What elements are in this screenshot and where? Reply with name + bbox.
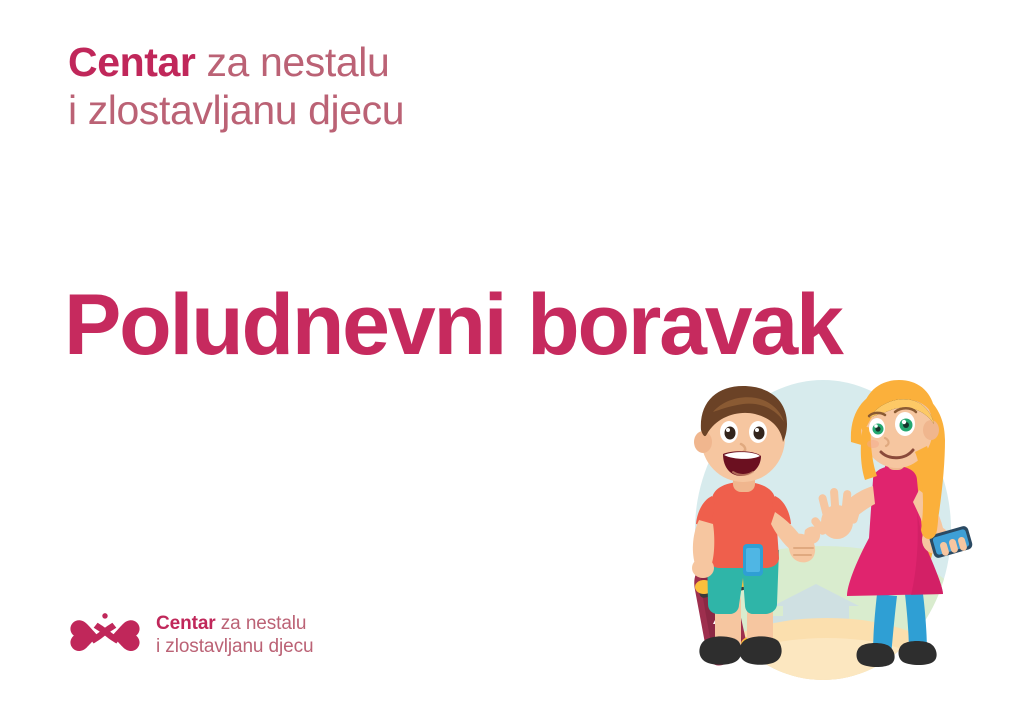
- footer-brand-name: Centar: [156, 613, 216, 634]
- header-line-2: i zlostavljanu djecu: [68, 86, 404, 134]
- header-brand-tagline-part2: i zlostavljanu djecu: [68, 87, 404, 133]
- footer-logo-text: Centar za nestalu i zlostavljanu djecu: [156, 613, 313, 659]
- footer-brand-tagline-part2: i zlostavljanu djecu: [156, 636, 313, 657]
- footer-logo-line-1: Centar za nestalu: [156, 613, 313, 636]
- infinity-hearts-icon: [68, 608, 142, 664]
- header-line-1: Centar za nestalu: [68, 38, 404, 86]
- footer-brand-logo: Centar za nestalu i zlostavljanu djecu: [68, 608, 313, 664]
- header-brand-lockup: Centar za nestalu i zlostavljanu djecu: [68, 38, 404, 135]
- header-brand-tagline-part1: za nestalu: [195, 39, 389, 85]
- footer-brand-tagline-part1: za nestalu: [216, 613, 307, 634]
- children-illustration: [655, 372, 985, 682]
- boy-phone-in-pocket: [743, 544, 763, 576]
- footer-logo-line-2: i zlostavljanu djecu: [156, 636, 313, 659]
- header-brand-name: Centar: [68, 39, 195, 85]
- page-title: Poludnevni boravak: [64, 280, 842, 370]
